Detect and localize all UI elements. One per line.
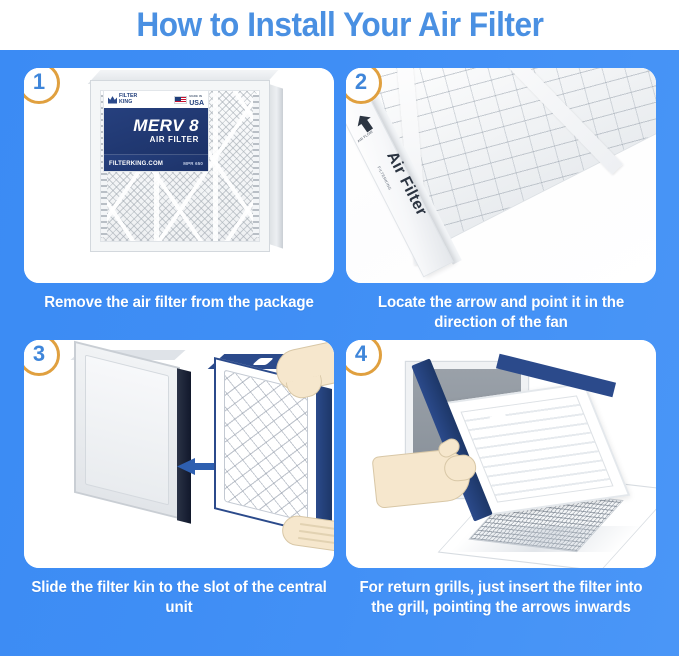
brand-name: FILTER KING (119, 94, 137, 105)
product-type: AIR FILTER (150, 135, 199, 145)
page-title: How to Install Your Air Filter (136, 6, 543, 44)
step-1-number: 1 (33, 71, 45, 93)
arrow-head (177, 458, 195, 475)
header-bar: How to Install Your Air Filter (0, 0, 679, 50)
steps-canvas: FILTER KING MADE IN (0, 50, 679, 656)
step-1-caption: Remove the air filter from the package (29, 293, 330, 313)
grill-louvers (460, 395, 613, 502)
usa-flag-icon (174, 96, 187, 104)
infographic-page: How to Install Your Air Filter (0, 0, 679, 656)
airflow-label: AIR FLOW (357, 130, 374, 144)
step-4-number: 4 (355, 343, 367, 365)
step-4: 4 For return grills, just insert the fil… (346, 340, 656, 618)
country-text: USA (189, 100, 204, 107)
filter-corner-closeup: AIR FLOW Air Filter FILTERKING (346, 68, 656, 283)
label-header-row: FILTER KING MADE IN (104, 91, 208, 108)
filter-front-face: FILTER KING MADE IN (90, 80, 270, 252)
insert-direction-arrow (177, 458, 219, 474)
filter-king-logo: FILTER KING (108, 94, 137, 105)
step-2-card: AIR FLOW Air Filter FILTERKING 2 (346, 68, 656, 283)
made-in-text: MADE IN (189, 93, 204, 100)
merv-rating: MERV 8 (133, 117, 199, 135)
air-filter-box: FILTER KING MADE IN (90, 80, 270, 252)
step-4-illustration (346, 340, 656, 568)
website-text: FILTERKING.COM (109, 161, 163, 167)
step-1: FILTER KING MADE IN (24, 68, 334, 313)
step-4-caption: For return grills, just insert the filte… (351, 578, 652, 618)
label-main-block: MERV 8 AIR FILTER (104, 108, 208, 154)
drop-shadow (449, 526, 642, 552)
filter-pleat-comb-right (253, 95, 259, 237)
central-unit-body (74, 341, 180, 519)
label-footer-row: FILTERKING.COM MPR 650 (104, 154, 208, 172)
step-3-illustration (24, 340, 334, 568)
step-2-illustration: AIR FLOW Air Filter FILTERKING (346, 68, 656, 283)
country-label: MADE IN USA (189, 93, 204, 107)
step-3-caption: Slide the filter kin to the slot of the … (29, 578, 330, 618)
hand-lower (280, 514, 334, 553)
crown-icon (108, 96, 117, 104)
step-3-number: 3 (33, 343, 45, 365)
step-2: AIR FLOW Air Filter FILTERKING 2 Locate (346, 68, 656, 333)
mpr-rating-text: MPR 650 (183, 161, 203, 166)
step-2-number: 2 (355, 71, 367, 93)
step-1-card: FILTER KING MADE IN (24, 68, 334, 283)
filter-product-label: FILTER KING MADE IN (103, 90, 209, 172)
central-unit-slot (177, 368, 191, 523)
step-3-card: 3 (24, 340, 334, 568)
made-in-usa-mark: MADE IN USA (174, 93, 204, 107)
step-1-illustration: FILTER KING MADE IN (24, 68, 334, 283)
brand-line-2: KING (119, 100, 137, 105)
steps-grid: FILTER KING MADE IN (0, 50, 679, 656)
step-2-caption: Locate the arrow and point it in the dir… (351, 293, 652, 333)
step-4-card: 4 (346, 340, 656, 568)
step-3: 3 Slide the filter kin to the slot of th… (24, 340, 334, 618)
hand-inserting-filter (372, 447, 473, 509)
